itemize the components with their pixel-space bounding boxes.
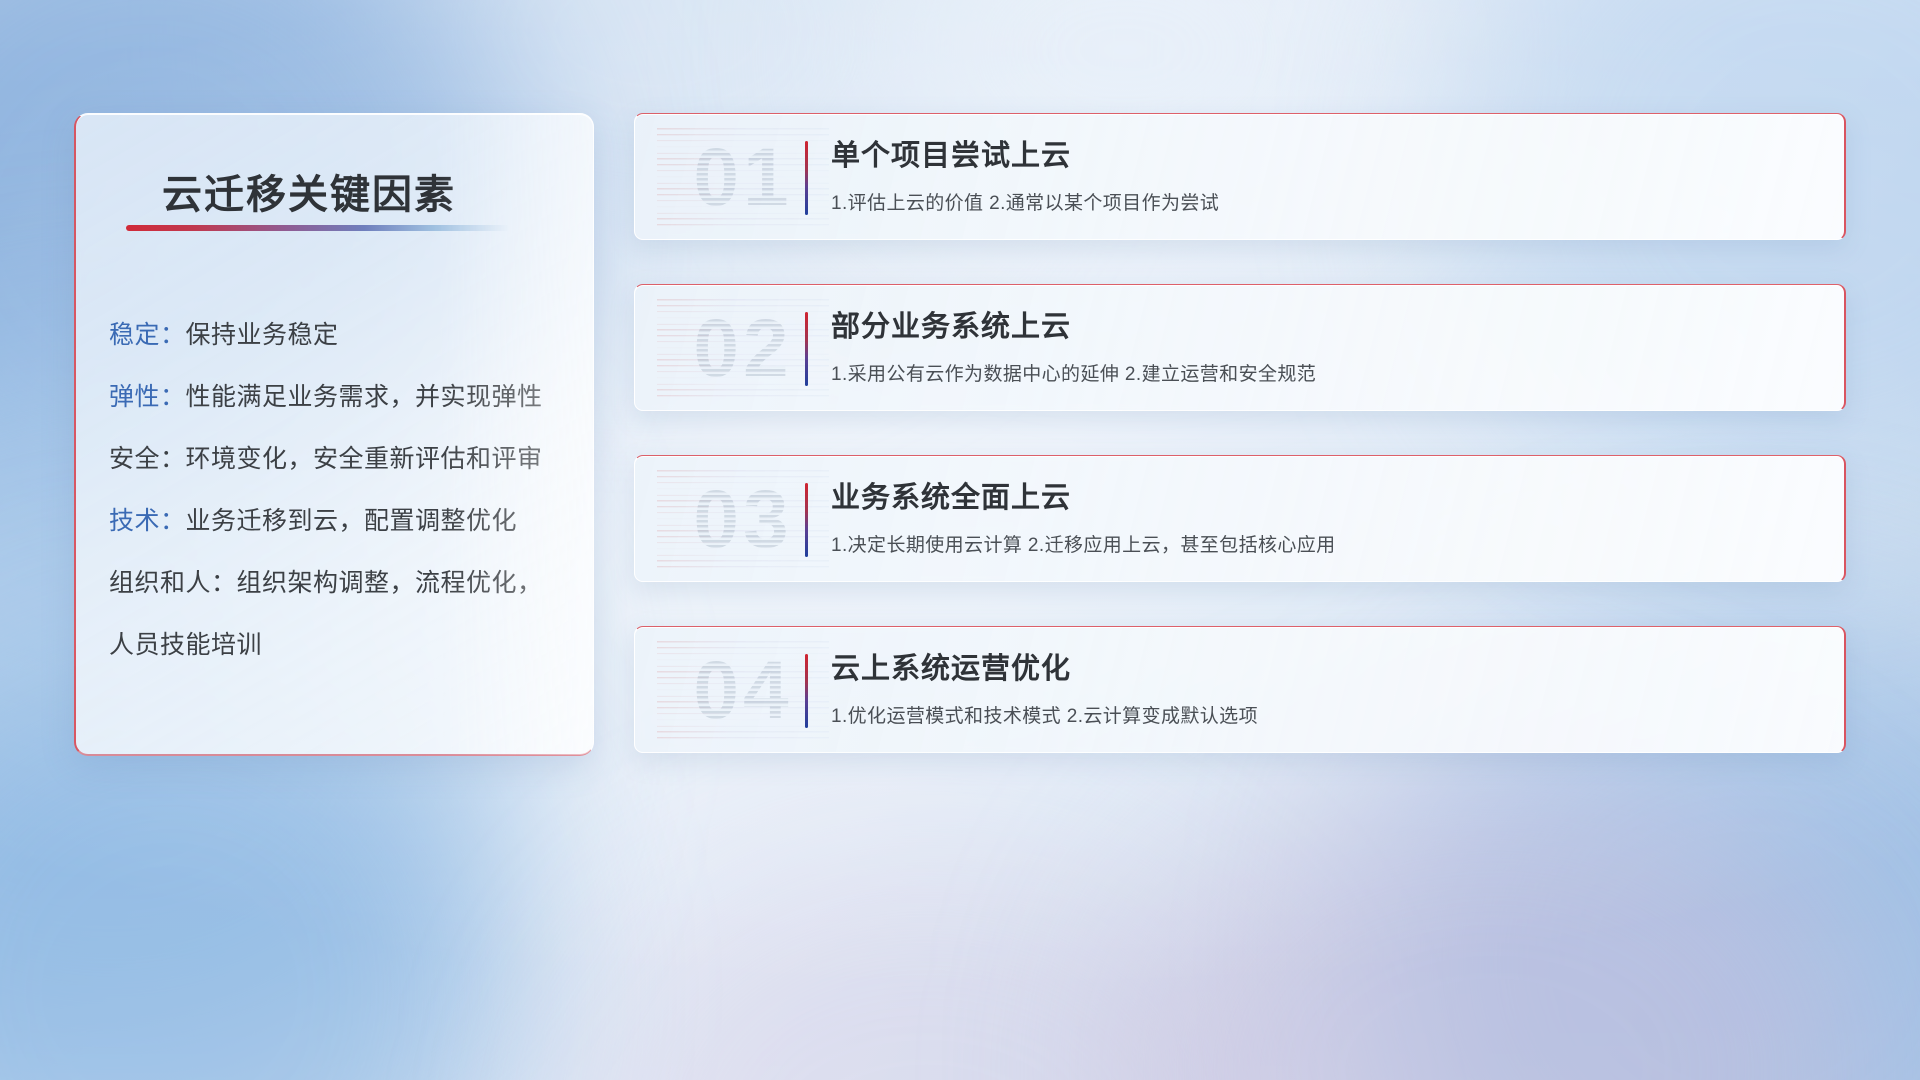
step-body: 业务系统全面上云1.决定长期使用云计算 2.迁移应用上云，甚至包括核心应用 [831, 474, 1824, 557]
factor-label: 技术： [109, 507, 186, 535]
factor-label: 安全： [109, 445, 186, 473]
step-title: 部分业务系统上云 [831, 303, 1824, 345]
step-number-watermark: 02 [657, 299, 829, 399]
step-number-watermark: 03 [657, 470, 829, 570]
factor-text: 保持业务稳定 [186, 321, 339, 349]
step-subtitle: 1.决定长期使用云计算 2.迁移应用上云，甚至包括核心应用 [831, 530, 1824, 557]
step-subtitle: 1.优化运营模式和技术模式 2.云计算变成默认选项 [831, 701, 1824, 728]
step-title: 业务系统全面上云 [831, 474, 1824, 516]
step-card[interactable]: 04云上系统运营优化1.优化运营模式和技术模式 2.云计算变成默认选项 [634, 626, 1846, 753]
step-accent-bar [805, 483, 808, 557]
step-accent-bar [805, 312, 808, 386]
step-body: 云上系统运营优化1.优化运营模式和技术模式 2.云计算变成默认选项 [831, 645, 1824, 728]
step-title: 云上系统运营优化 [831, 645, 1824, 687]
factor-row: 稳定：保持业务稳定 [109, 304, 569, 366]
factor-label: 弹性： [109, 383, 186, 411]
step-accent-bar [805, 654, 808, 728]
title-underline-rule [126, 225, 510, 231]
key-factors-panel: 云迁移关键因素 稳定：保持业务稳定弹性：性能满足业务需求，并实现弹性安全：环境变… [74, 113, 594, 756]
factor-text: 性能满足业务需求，并实现弹性 [186, 383, 543, 411]
step-subtitle: 1.评估上云的价值 2.通常以某个项目作为尝试 [831, 188, 1824, 215]
factor-label: 组织和人： [109, 569, 237, 597]
factor-row: 组织和人：组织架构调整，流程优化， [109, 552, 569, 614]
factor-text: 人员技能培训 [109, 631, 262, 659]
step-body: 部分业务系统上云1.采用公有云作为数据中心的延伸 2.建立运营和安全规范 [831, 303, 1824, 386]
step-number-watermark: 04 [657, 641, 829, 741]
migration-steps-list: 01单个项目尝试上云1.评估上云的价值 2.通常以某个项目作为尝试02部分业务系… [634, 113, 1846, 753]
factor-label: 稳定： [109, 321, 186, 349]
step-card[interactable]: 01单个项目尝试上云1.评估上云的价值 2.通常以某个项目作为尝试 [634, 113, 1846, 240]
step-accent-bar [805, 141, 808, 215]
step-subtitle: 1.采用公有云作为数据中心的延伸 2.建立运营和安全规范 [831, 359, 1824, 386]
factor-row: 技术：业务迁移到云，配置调整优化 [109, 490, 569, 552]
step-card[interactable]: 02部分业务系统上云1.采用公有云作为数据中心的延伸 2.建立运营和安全规范 [634, 284, 1846, 411]
factor-row: 弹性：性能满足业务需求，并实现弹性 [109, 366, 569, 428]
factor-row: 安全：环境变化，安全重新评估和评审 [109, 428, 569, 490]
step-card[interactable]: 03业务系统全面上云1.决定长期使用云计算 2.迁移应用上云，甚至包括核心应用 [634, 455, 1846, 582]
step-title: 单个项目尝试上云 [831, 132, 1824, 174]
factor-text: 业务迁移到云，配置调整优化 [186, 507, 518, 535]
step-body: 单个项目尝试上云1.评估上云的价值 2.通常以某个项目作为尝试 [831, 132, 1824, 215]
factor-list: 稳定：保持业务稳定弹性：性能满足业务需求，并实现弹性安全：环境变化，安全重新评估… [109, 304, 569, 676]
step-number-watermark: 01 [657, 128, 829, 228]
factor-text: 组织架构调整，流程优化， [237, 569, 543, 597]
panel-title: 云迁移关键因素 [162, 162, 456, 220]
factor-row: 人员技能培训 [109, 614, 569, 676]
factor-text: 环境变化，安全重新评估和评审 [186, 445, 543, 473]
